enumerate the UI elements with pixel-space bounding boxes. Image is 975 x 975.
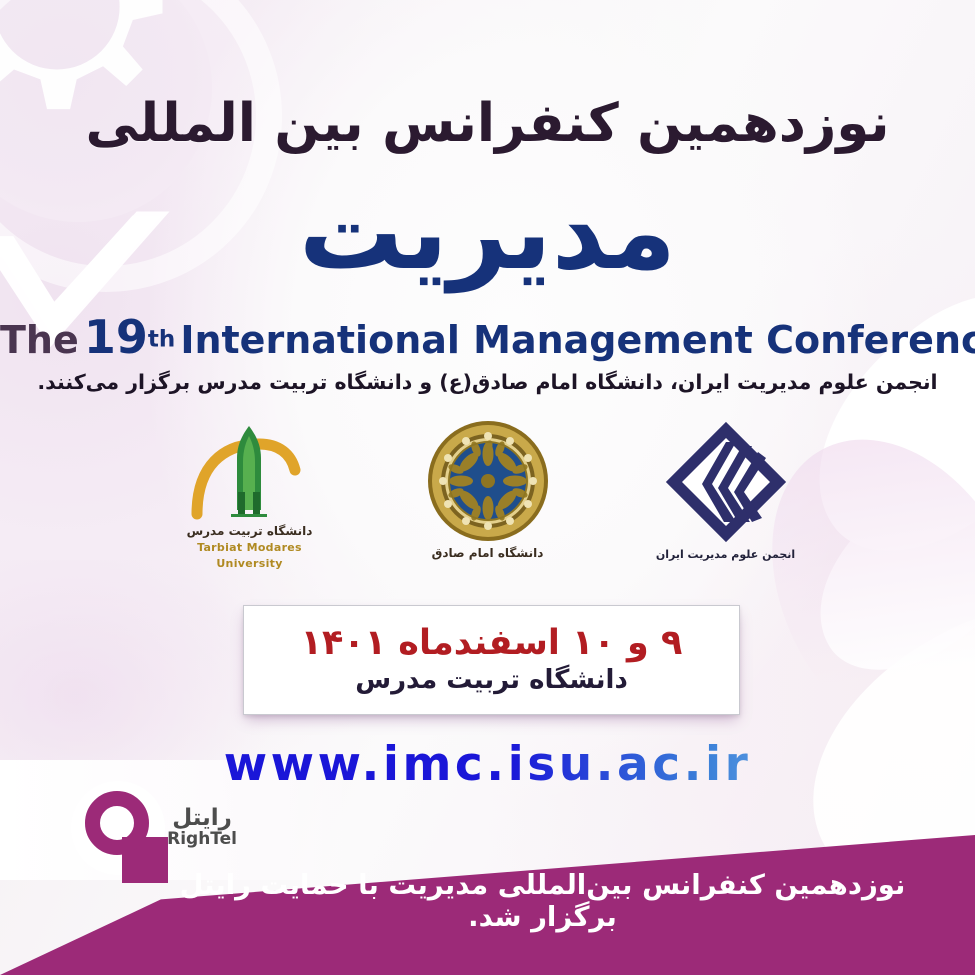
logo-caption-english-line2: University xyxy=(155,557,345,571)
page-title-keyword: مدیریت xyxy=(0,180,975,284)
conference-date: ۹ و ۱۰ اسفندماه ۱۴۰۱ xyxy=(301,624,683,663)
english-title-rest: International Management Conference xyxy=(180,318,975,362)
date-card: ۹ و ۱۰ اسفندماه ۱۴۰۱ دانشگاه تربیت مدرس xyxy=(243,605,740,715)
rightel-logo: رایتل RighTel xyxy=(42,782,237,874)
logo-caption-english-line1: Tarbiat Modares xyxy=(155,541,345,555)
logo-caption-persian: انجمن علوم مدیریت ایران xyxy=(631,548,821,562)
organizers-line: انجمن علوم مدیریت ایران، دانشگاه امام صا… xyxy=(0,370,975,394)
english-title-the: The xyxy=(0,318,79,362)
logo-iranian-management-sciences-association: انجمن علوم مدیریت ایران xyxy=(631,418,821,588)
conference-venue: دانشگاه تربیت مدرس xyxy=(355,665,628,696)
rightel-name-english: RighTel xyxy=(167,830,237,850)
english-title-number: 19 xyxy=(84,310,148,364)
page-title-english: The 19th International Management Confer… xyxy=(0,310,975,364)
logo-caption-persian: دانشگاه امام صادق xyxy=(393,546,583,561)
rightel-ring-icon xyxy=(75,785,161,871)
logo-imam-sadiq-university: دانشگاه امام صادق xyxy=(393,418,583,588)
rightel-ring xyxy=(85,791,149,855)
rightel-wordmark: رایتل RighTel xyxy=(167,806,237,850)
rightel-name-persian: رایتل xyxy=(167,806,237,830)
conference-poster: نوزدهمین کنفرانس بین المللی مدیریت The 1… xyxy=(0,0,975,975)
logo-caption-persian: دانشگاه تربیت مدرس xyxy=(155,524,345,539)
logo-tarbiat-modares-university: دانشگاه تربیت مدرس Tarbiat Modares Unive… xyxy=(155,418,345,588)
organizer-logos: دانشگاه تربیت مدرس Tarbiat Modares Unive… xyxy=(0,418,975,588)
page-title-persian: نوزدهمین کنفرانس بین المللی xyxy=(0,92,975,157)
english-title-ordinal: th xyxy=(148,327,175,353)
